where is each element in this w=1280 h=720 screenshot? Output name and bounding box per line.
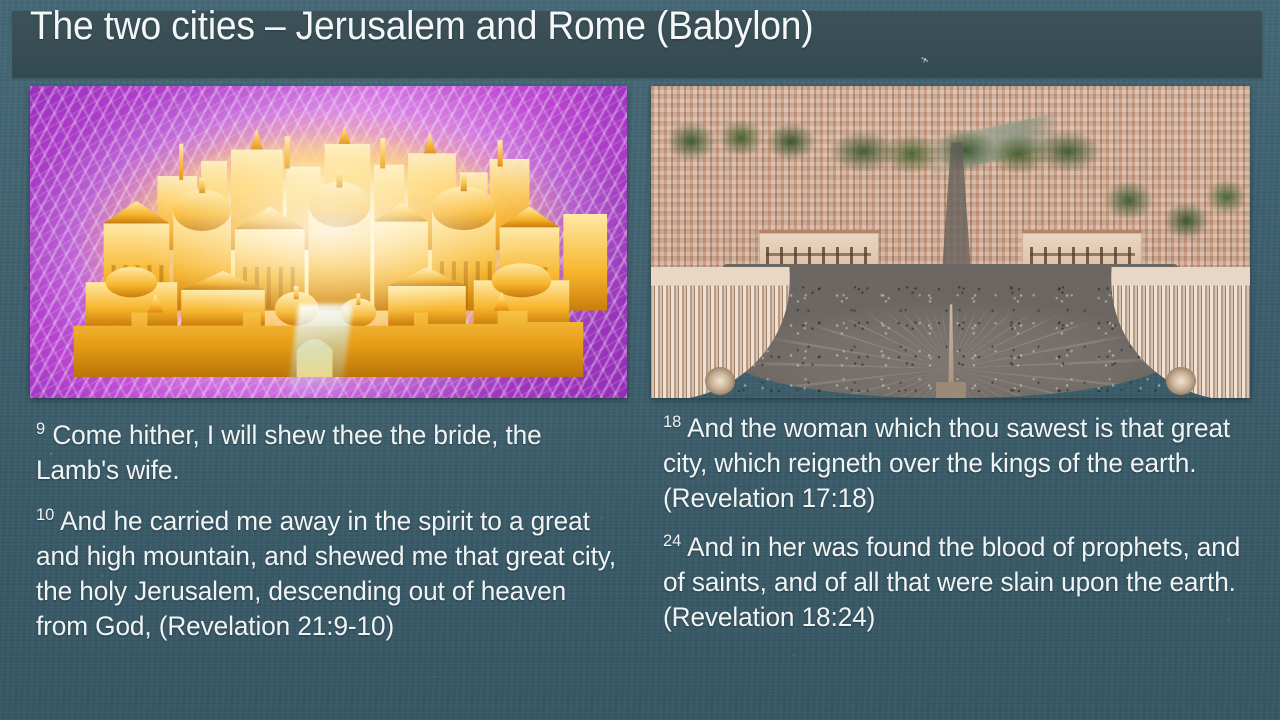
verse-number: 10 xyxy=(36,505,54,524)
scripture-column-right: 18 And the woman which thou sawest is th… xyxy=(663,411,1261,650)
verse-text: And the woman which thou sawest is that … xyxy=(663,413,1230,513)
verse-number: 9 xyxy=(36,419,45,438)
scripture-paragraph: 24 And in her was found the blood of pro… xyxy=(663,530,1243,635)
tree-cluster-top xyxy=(831,127,1101,177)
page-title: The two cities – Jerusalem and Rome (Bab… xyxy=(30,4,814,49)
fountain-right xyxy=(1166,367,1196,395)
scripture-column-left: 9 Come hither, I will shew thee the brid… xyxy=(36,418,636,661)
fountain-left xyxy=(705,367,735,395)
tree-cluster-left xyxy=(663,117,819,161)
verse-text: Come hither, I will shew thee the bride,… xyxy=(36,420,542,485)
verse-number: 18 xyxy=(663,412,681,431)
scripture-paragraph: 10 And he carried me away in the spirit … xyxy=(36,504,618,644)
jerusalem-gate-light xyxy=(287,304,352,398)
slide-canvas: The two cities – Jerusalem and Rome (Bab… xyxy=(0,0,1280,720)
verse-text: And he carried me away in the spirit to … xyxy=(36,506,616,641)
scripture-paragraph: 9 Come hither, I will shew thee the brid… xyxy=(36,418,618,488)
scripture-paragraph: 18 And the woman which thou sawest is th… xyxy=(663,411,1243,516)
verse-text: And in her was found the blood of prophe… xyxy=(663,532,1240,632)
obelisk-base xyxy=(936,382,966,398)
st-peters-square-image xyxy=(651,86,1250,398)
dust-speck-icon xyxy=(920,55,930,64)
verse-number: 24 xyxy=(663,531,681,550)
new-jerusalem-image xyxy=(30,86,627,398)
